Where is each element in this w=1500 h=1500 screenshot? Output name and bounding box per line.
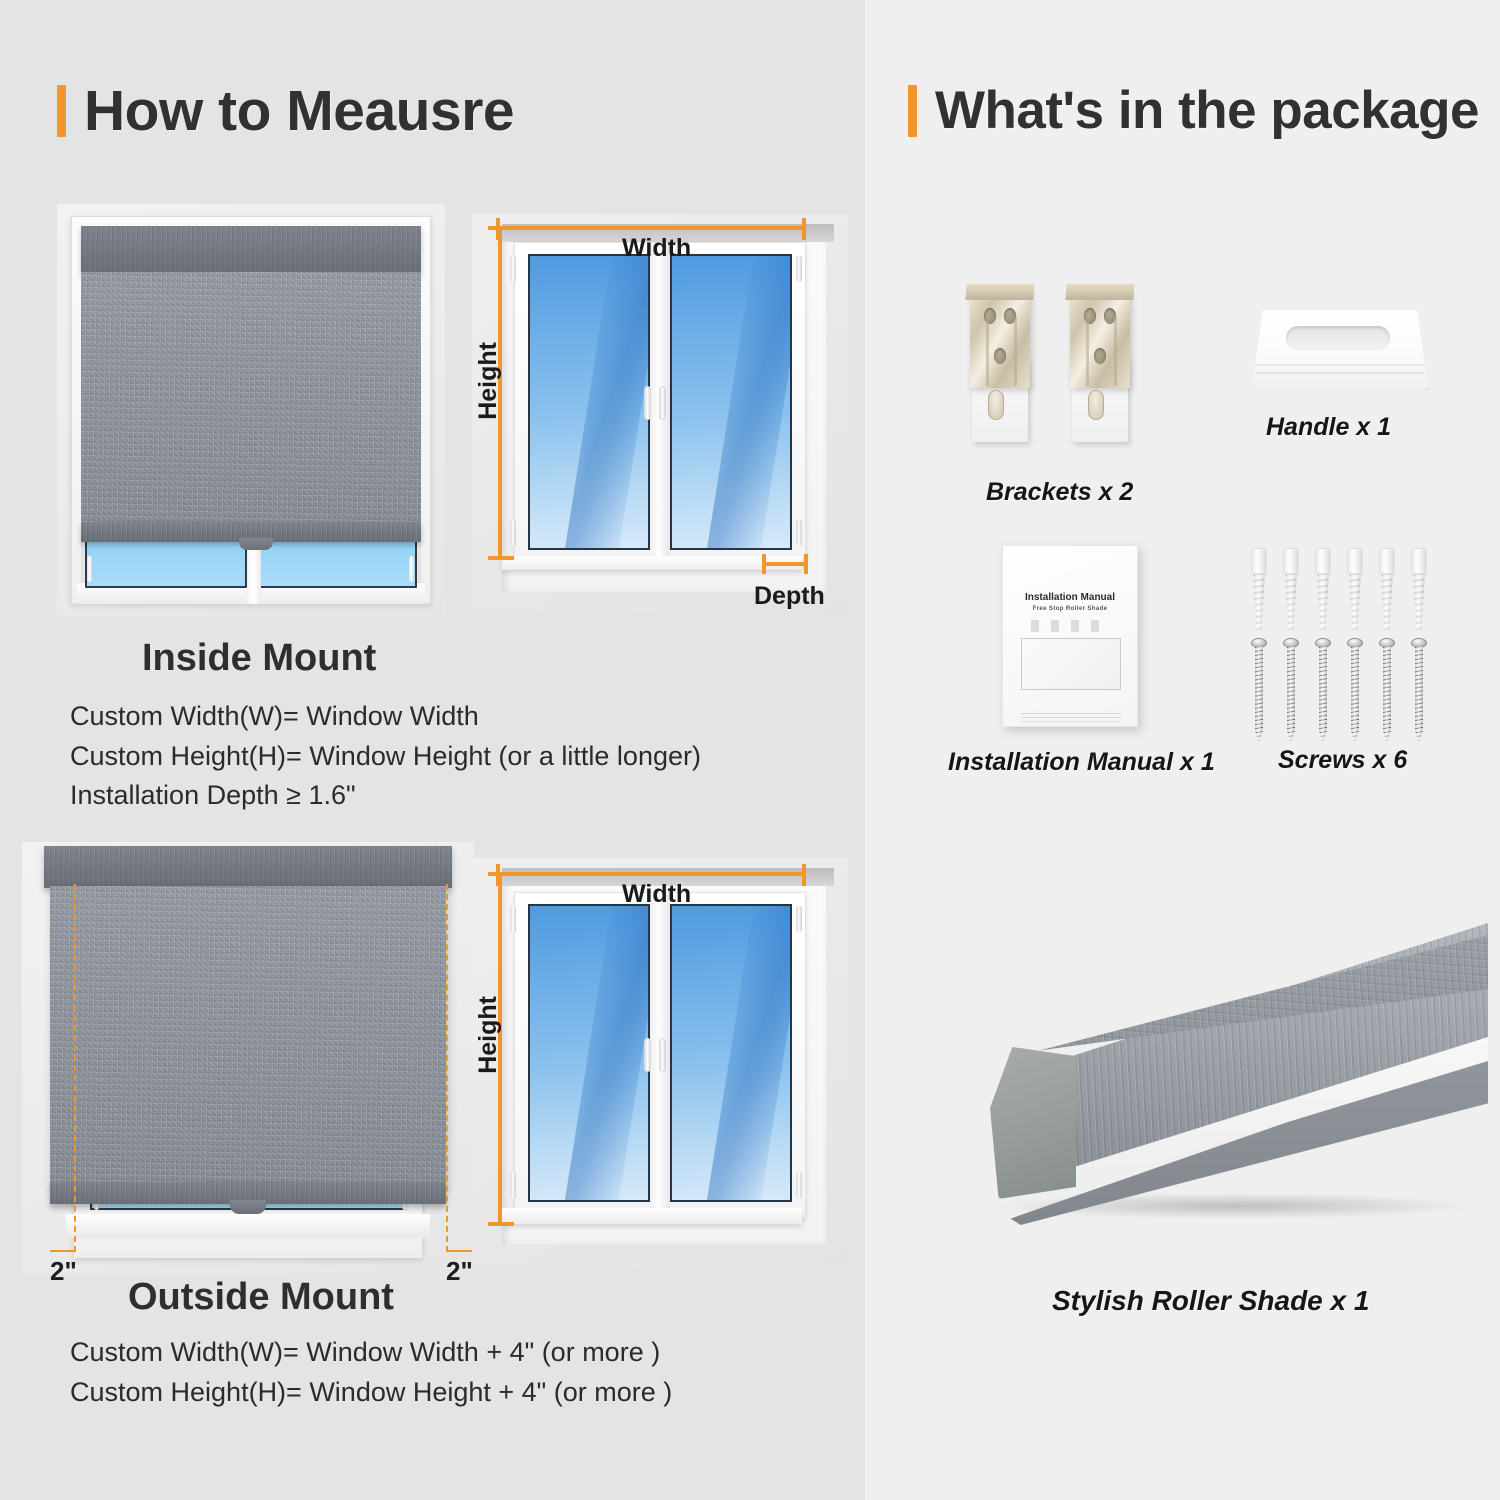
shade-fabric: [81, 272, 421, 534]
handle-grip-slot: [1286, 326, 1390, 350]
bracket-metal-top: [965, 284, 1034, 300]
manual-cover-footer: [1021, 713, 1121, 714]
wall-anchor-icon: [1346, 548, 1364, 630]
glass-pane-right: [670, 904, 792, 1202]
window-hinge-icon: [796, 1172, 802, 1198]
inside-mount-window-diagram: Width Height Depth: [472, 214, 848, 614]
window-hinge-icon: [510, 1172, 516, 1198]
screw-icon: [1251, 638, 1267, 742]
inside-mount-spec-3: Installation Depth ≥ 1.6": [70, 777, 701, 814]
window-handle-icon: [87, 556, 92, 582]
window-hinge-icon: [510, 256, 516, 282]
glass-pane-left: [528, 254, 650, 550]
overhang-guide-right: [446, 884, 448, 1252]
depth-measure-cap: [762, 554, 766, 574]
anchor-cap: [1251, 548, 1267, 574]
roller-shade-label: Stylish Roller Shade x 1: [1052, 1285, 1369, 1317]
overhang-tick-left: [50, 1250, 76, 1252]
anchor-cap: [1283, 548, 1299, 574]
bracket-metal-top: [1065, 284, 1134, 300]
screw-shaft: [1415, 647, 1423, 742]
bracket-rib: [1014, 316, 1017, 386]
wall-anchor-icon: [1314, 548, 1332, 630]
panel-divider: [864, 0, 867, 1500]
inside-mount-spec-1: Custom Width(W)= Window Width: [70, 698, 701, 735]
window-handle-icon: [644, 386, 651, 420]
outside-mount-spec-1: Custom Width(W)= Window Width + 4" (or m…: [70, 1334, 672, 1371]
bracket-rib: [1086, 316, 1089, 386]
handle-body: [1252, 310, 1428, 390]
package-heading: What's in the package: [908, 80, 1479, 141]
overhang-label-right: 2": [446, 1256, 473, 1287]
depth-measure-line: [764, 562, 808, 566]
manual-cover-subtitle: Free Stop Roller Shade: [1003, 606, 1137, 612]
anchor-cap: [1411, 548, 1427, 574]
height-label: Height: [474, 342, 503, 420]
screw-head: [1283, 638, 1299, 648]
outside-mount-window-diagram: Width Height: [472, 858, 848, 1266]
screw-head: [1251, 638, 1267, 648]
screw-icon: [1347, 638, 1363, 742]
width-label: Width: [622, 880, 691, 909]
width-measure-line: [498, 226, 806, 230]
wall-anchor-icon: [1378, 548, 1396, 630]
depth-label: Depth: [754, 582, 825, 611]
screw-shaft: [1383, 647, 1391, 742]
inside-mount-specs: Custom Width(W)= Window Width Custom Hei…: [70, 698, 701, 817]
inside-mount-title: Inside Mount: [142, 637, 376, 680]
shade-headrail: [44, 846, 452, 888]
glass-pane: [85, 534, 247, 588]
shade-pull-tab-icon: [239, 538, 273, 550]
screw-icon: [1379, 638, 1395, 742]
bracket-rib: [1114, 316, 1117, 386]
roller-shade-icon: [980, 905, 1488, 1240]
depth-measure-cap: [804, 554, 808, 574]
screw-shaft: [1319, 647, 1327, 742]
window-handle-icon: [644, 1038, 651, 1072]
bracket-hole: [1094, 348, 1106, 364]
screw-head: [1411, 638, 1427, 648]
bracket-metal-body: [1070, 290, 1130, 388]
window-hinge-icon: [796, 906, 802, 932]
window-hinge-icon: [796, 256, 802, 282]
screw-icon: [1283, 638, 1299, 742]
handle-label: Handle x 1: [1266, 413, 1391, 442]
height-measure-cap: [488, 1222, 514, 1226]
height-measure-cap: [488, 872, 514, 876]
width-label: Width: [622, 234, 691, 263]
screw-head: [1379, 638, 1395, 648]
window-stool: [502, 556, 802, 570]
window-hinge-icon: [510, 520, 516, 546]
overhang-tick-right: [446, 1250, 472, 1252]
manual-icon: Installation Manual Free Stop Roller Sha…: [1002, 545, 1138, 727]
anchor-shaft: [1349, 574, 1361, 630]
outside-mount-spec-2: Custom Height(H)= Window Height + 4" (or…: [70, 1374, 672, 1411]
accent-bar-icon: [908, 85, 917, 137]
window-stool: [502, 1208, 802, 1224]
glass-pane-right: [670, 254, 792, 550]
how-to-measure-title: How to Meausre: [84, 78, 514, 144]
overhang-guide-left: [74, 884, 76, 1252]
screw-head: [1315, 638, 1331, 648]
height-measure-cap: [488, 556, 514, 560]
width-measure-line: [498, 872, 806, 876]
screw-head: [1347, 638, 1363, 648]
screw-shaft: [1351, 647, 1359, 742]
anchor-shaft: [1317, 574, 1329, 630]
screw-icon: [1411, 638, 1427, 742]
height-label: Height: [474, 996, 503, 1074]
width-measure-cap: [802, 218, 806, 240]
handle-icon: [1252, 310, 1428, 390]
width-measure-cap: [802, 864, 806, 886]
bracket-slot: [988, 390, 1004, 420]
screw-shaft: [1287, 647, 1295, 742]
outside-mount-specs: Custom Width(W)= Window Width + 4" (or m…: [70, 1334, 672, 1413]
handle-ridge: [1256, 372, 1424, 374]
wall-anchor-icon: [1282, 548, 1300, 630]
bracket-metal-body: [970, 290, 1030, 388]
screw-icon: [1315, 638, 1331, 742]
shade-headrail: [81, 226, 421, 274]
window-hinge-icon: [796, 520, 802, 546]
wall-anchor-icon: [1410, 548, 1428, 630]
bracket-icon: [1060, 282, 1140, 442]
manual-label: Installation Manual x 1: [948, 748, 1215, 777]
wall-anchor-icon: [1250, 548, 1268, 630]
roller-end-cap: [990, 1047, 1076, 1199]
manual-cover-illustration: [1021, 638, 1121, 690]
height-measure-cap: [488, 226, 514, 230]
how-to-measure-heading: How to Meausre: [57, 78, 514, 144]
anchor-cap: [1347, 548, 1363, 574]
glass-pane: [255, 534, 417, 588]
outside-mount-title: Outside Mount: [128, 1276, 394, 1319]
shade-pull-tab-icon: [230, 1200, 266, 1214]
window-handle-icon: [659, 1038, 666, 1072]
window-handle-icon: [659, 386, 666, 420]
window-hinge-icon: [510, 906, 516, 932]
window-sill: [66, 1214, 430, 1238]
window-handle-icon: [409, 556, 414, 582]
shade-fabric: [50, 886, 446, 1186]
infographic-page: How to Meausre What's in the package: [0, 0, 1500, 1500]
bracket-rib: [986, 316, 989, 386]
glass-pane-left: [528, 904, 650, 1202]
anchor-cap: [1379, 548, 1395, 574]
handle-ridge: [1256, 364, 1424, 366]
inside-mount-spec-2: Custom Height(H)= Window Height (or a li…: [70, 738, 701, 775]
screws-label: Screws x 6: [1278, 746, 1407, 775]
anchor-shaft: [1253, 574, 1265, 630]
accent-bar-icon: [57, 85, 66, 137]
anchor-shaft: [1285, 574, 1297, 630]
manual-cover-title: Installation Manual: [1003, 592, 1137, 603]
bracket-slot: [1088, 390, 1104, 420]
anchor-shaft: [1381, 574, 1393, 630]
inside-mount-shade-image: [57, 204, 445, 616]
outside-mount-shade-image: 2" 2": [22, 842, 474, 1274]
brackets-label: Brackets x 2: [986, 478, 1133, 507]
anchor-cap: [1315, 548, 1331, 574]
bracket-icon: [960, 282, 1040, 442]
anchor-shaft: [1413, 574, 1425, 630]
overhang-label-left: 2": [50, 1256, 77, 1287]
package-title: What's in the package: [935, 80, 1479, 141]
bracket-hole: [994, 348, 1006, 364]
manual-cover-figures: [1031, 620, 1111, 632]
screw-shaft: [1255, 647, 1263, 742]
